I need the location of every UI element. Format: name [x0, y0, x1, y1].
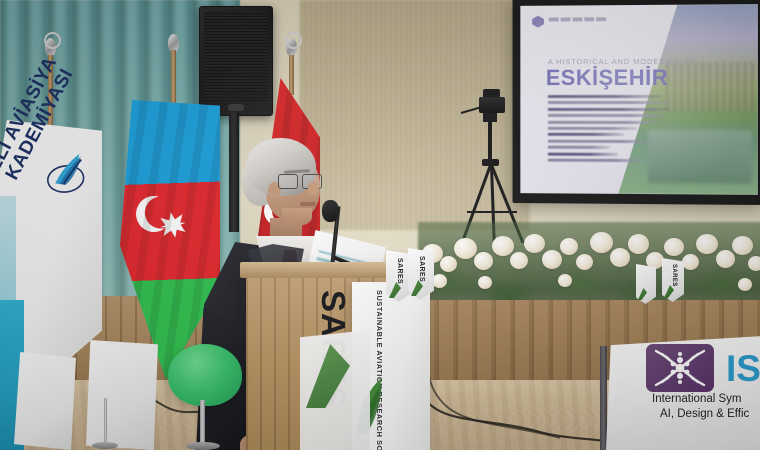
rose [478, 276, 492, 289]
symposium-title-line2: AI, Design & Effic [660, 408, 749, 420]
speaker-grille [204, 11, 268, 101]
projection-screen: A HISTORICAL AND MODERN CITY ESKİŞEHİR [520, 4, 757, 195]
rose [732, 236, 753, 255]
slide-bullet-line [548, 146, 611, 149]
decor-stand-base [186, 442, 220, 450]
flag-stand-pole [104, 398, 107, 446]
rose [560, 238, 578, 255]
rose [576, 254, 593, 270]
table-leg [600, 346, 607, 450]
video-camera-icon [479, 97, 505, 113]
flag-finial-ring [285, 32, 302, 49]
slide-bullet-line [548, 158, 645, 161]
pa-loudspeaker [199, 6, 273, 116]
tripod-column [488, 120, 492, 162]
rose [716, 250, 735, 268]
flag-pole [289, 55, 294, 95]
slide-bullet-line [548, 101, 668, 104]
rose [682, 254, 699, 270]
mouth [300, 202, 316, 206]
foreground-white-board [14, 352, 76, 450]
slide-institution-logo-icon [532, 16, 544, 28]
slide-bullet-line [548, 127, 637, 130]
conference-photo-scene: A HISTORICAL AND MODERN CITY ESKİŞEHİR [0, 0, 760, 450]
rose [542, 250, 562, 269]
symposium-title-line1: International Sym [652, 393, 742, 405]
aviation-academy-logo-icon [39, 149, 91, 199]
slide-bullet-line [548, 133, 624, 136]
rose [696, 234, 718, 254]
slide-bullet-line [548, 114, 665, 117]
slide-bullet-line [548, 95, 662, 98]
slide-bullet-list [548, 95, 669, 165]
rose [610, 248, 630, 267]
rose [664, 238, 684, 256]
flag-pole [171, 50, 176, 110]
decor-stand-pole [200, 400, 205, 446]
slide-bullet-line [548, 120, 659, 123]
speaker-badge [228, 104, 244, 111]
projection-screen-frame: A HISTORICAL AND MODERN CITY ESKİŞEHİR [513, 0, 760, 205]
rose [590, 232, 613, 253]
slide-bullet-line [548, 108, 669, 111]
slide-institution-name [549, 17, 606, 21]
table-flag-label: SARES [396, 258, 403, 284]
symposium-acronym: IS [726, 348, 760, 390]
slide-bullet-line [548, 152, 618, 155]
slide-photo-cityscape [666, 61, 755, 111]
presentation-slide: A HISTORICAL AND MODERN CITY ESKİŞEHİR [520, 4, 757, 195]
flag-stand-base [92, 442, 118, 449]
rose [510, 252, 528, 269]
green-balloon-decor [168, 344, 242, 406]
rose [748, 256, 760, 271]
drone-icon [650, 347, 710, 389]
rose [558, 274, 572, 287]
table-flag-label: SARES [418, 256, 425, 282]
table-flag-label: SARES [671, 264, 677, 287]
left-banner-upper [0, 196, 16, 306]
rose [738, 278, 752, 291]
rose [432, 274, 447, 288]
rose [454, 238, 477, 259]
slide-bullet-line [548, 139, 654, 142]
tripod-brace [467, 211, 517, 213]
rose [492, 236, 514, 256]
rose [524, 234, 545, 253]
rose [440, 256, 457, 272]
foreground-white-board [86, 340, 158, 450]
floor-cable [400, 300, 620, 450]
slide-title-text: ESKİŞEHİR [546, 65, 668, 91]
nose [308, 182, 319, 195]
microphone-icon [322, 200, 339, 222]
rose [628, 234, 649, 254]
rose [474, 252, 493, 270]
